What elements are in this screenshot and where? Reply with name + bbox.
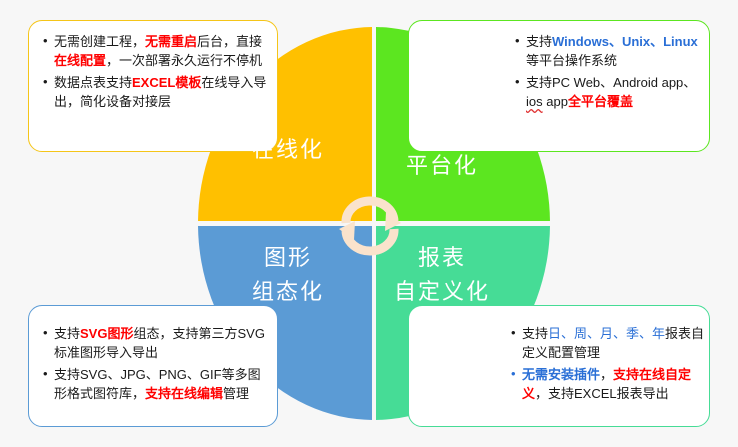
callout-graphics-list: 支持SVG图形组态，支持第三方SVG标准图形导入导出 支持SVG、JPG、PNG… <box>43 324 271 403</box>
callout-crossplatform-list: 支持Windows、Unix、Linux等平台操作系统 支持PC Web、And… <box>515 32 703 111</box>
callout-box-online[interactable]: 无需创建工程，无需重启后台，直接在线配置，一次部署永久运行不停机 数据点表支持E… <box>28 20 278 152</box>
callout-box-crossplatform[interactable]: 支持Windows、Unix、Linux等平台操作系统 支持PC Web、And… <box>408 20 710 152</box>
callout-report-text: 支持日、周、月、季、年报表自定义配置管理 无需安装插件，支持在线自定义，支持EX… <box>511 324 707 406</box>
list-item: 无需安装插件，支持在线自定义，支持EXCEL报表导出 <box>511 365 707 403</box>
list-item: 无需创建工程，无需重启后台，直接在线配置，一次部署永久运行不停机 <box>43 32 269 70</box>
callout-crossplatform-text: 支持Windows、Unix、Linux等平台操作系统 支持PC Web、And… <box>515 32 703 114</box>
callout-box-graphics[interactable]: 支持SVG图形组态，支持第三方SVG标准图形导入导出 支持SVG、JPG、PNG… <box>28 305 278 427</box>
recycle-arrows-icon <box>339 193 401 259</box>
list-item: 数据点表支持EXCEL模板在线导入导出，简化设备对接层 <box>43 73 269 111</box>
list-item: 支持SVG、JPG、PNG、GIF等多图形格式图符库，支持在线编辑管理 <box>43 365 271 403</box>
list-item: 支持PC Web、Android app、ios app全平台覆盖 <box>515 73 703 111</box>
callout-box-report[interactable]: 支持日、周、月、季、年报表自定义配置管理 无需安装插件，支持在线自定义，支持EX… <box>408 305 710 427</box>
callout-report-list: 支持日、周、月、季、年报表自定义配置管理 无需安装插件，支持在线自定义，支持EX… <box>511 324 707 403</box>
callout-online-list: 无需创建工程，无需重启后台，直接在线配置，一次部署永久运行不停机 数据点表支持E… <box>43 32 269 111</box>
diagram-canvas: 在线化 跨 平台化 图形 组态化 报表 自定义化 无需创建工程，无需重启后台，直… <box>0 0 738 447</box>
list-item: 支持Windows、Unix、Linux等平台操作系统 <box>515 32 703 70</box>
list-item: 支持日、周、月、季、年报表自定义配置管理 <box>511 324 707 362</box>
callout-online-text: 无需创建工程，无需重启后台，直接在线配置，一次部署永久运行不停机 数据点表支持E… <box>43 32 269 114</box>
callout-graphics-text: 支持SVG图形组态，支持第三方SVG标准图形导入导出 支持SVG、JPG、PNG… <box>43 324 271 406</box>
list-item: 支持SVG图形组态，支持第三方SVG标准图形导入导出 <box>43 324 271 362</box>
